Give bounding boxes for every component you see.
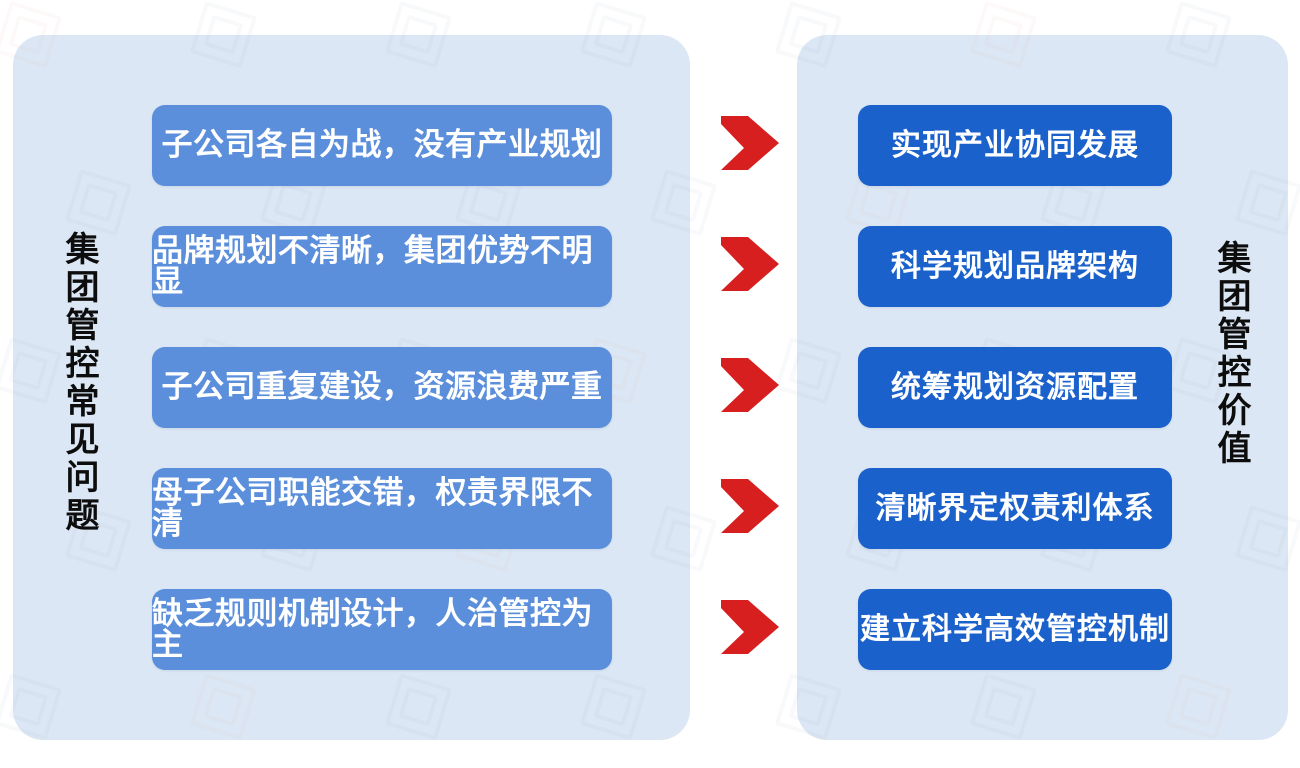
issues-card-list: 子公司各自为战，没有产业规划 品牌规划不清晰，集团优势不明显 子公司重复建设，资… (152, 105, 612, 670)
issue-card[interactable]: 子公司各自为战，没有产业规划 (152, 105, 612, 186)
connector-arrow-slot (712, 105, 788, 186)
issue-card-label: 缺乏规则机制设计，人治管控为主 (152, 599, 612, 661)
connector-arrow-slot (712, 347, 788, 428)
issue-card-label: 子公司各自为战，没有产业规划 (162, 130, 603, 161)
issue-card[interactable]: 母子公司职能交错，权责界限不清 (152, 468, 612, 549)
issue-card[interactable]: 缺乏规则机制设计，人治管控为主 (152, 589, 612, 670)
connector-arrow-slot (712, 468, 788, 549)
chevron-right-icon (718, 114, 782, 177)
value-card-label: 建立科学高效管控机制 (860, 615, 1170, 645)
value-card[interactable]: 清晰界定权责利体系 (858, 468, 1172, 549)
chevron-right-icon (718, 356, 782, 419)
issue-card[interactable]: 子公司重复建设，资源浪费严重 (152, 347, 612, 428)
value-card-label: 清晰界定权责利体系 (876, 494, 1155, 524)
value-card[interactable]: 统筹规划资源配置 (858, 347, 1172, 428)
value-card-label: 统筹规划资源配置 (891, 373, 1139, 403)
connector-arrow-list (712, 105, 788, 670)
chevron-right-icon (718, 477, 782, 540)
issues-panel-title: 集团管控常见问题 (62, 231, 96, 535)
values-card-list: 实现产业协同发展 科学规划品牌架构 统筹规划资源配置 清晰界定权责利体系 建立科… (858, 105, 1172, 670)
value-card[interactable]: 科学规划品牌架构 (858, 226, 1172, 307)
value-card[interactable]: 实现产业协同发展 (858, 105, 1172, 186)
issue-card-label: 母子公司职能交错，权责界限不清 (152, 478, 612, 540)
connector-arrow-slot (712, 589, 788, 670)
issue-card[interactable]: 品牌规划不清晰，集团优势不明显 (152, 226, 612, 307)
value-card-label: 实现产业协同发展 (891, 131, 1139, 161)
chevron-right-icon (718, 235, 782, 298)
connector-arrow-slot (712, 226, 788, 307)
values-panel-title: 集团管控价值 (1214, 240, 1248, 468)
chevron-right-icon (718, 598, 782, 661)
value-card[interactable]: 建立科学高效管控机制 (858, 589, 1172, 670)
issue-card-label: 品牌规划不清晰，集团优势不明显 (152, 236, 612, 298)
value-card-label: 科学规划品牌架构 (891, 252, 1139, 282)
issue-card-label: 子公司重复建设，资源浪费严重 (162, 372, 603, 403)
